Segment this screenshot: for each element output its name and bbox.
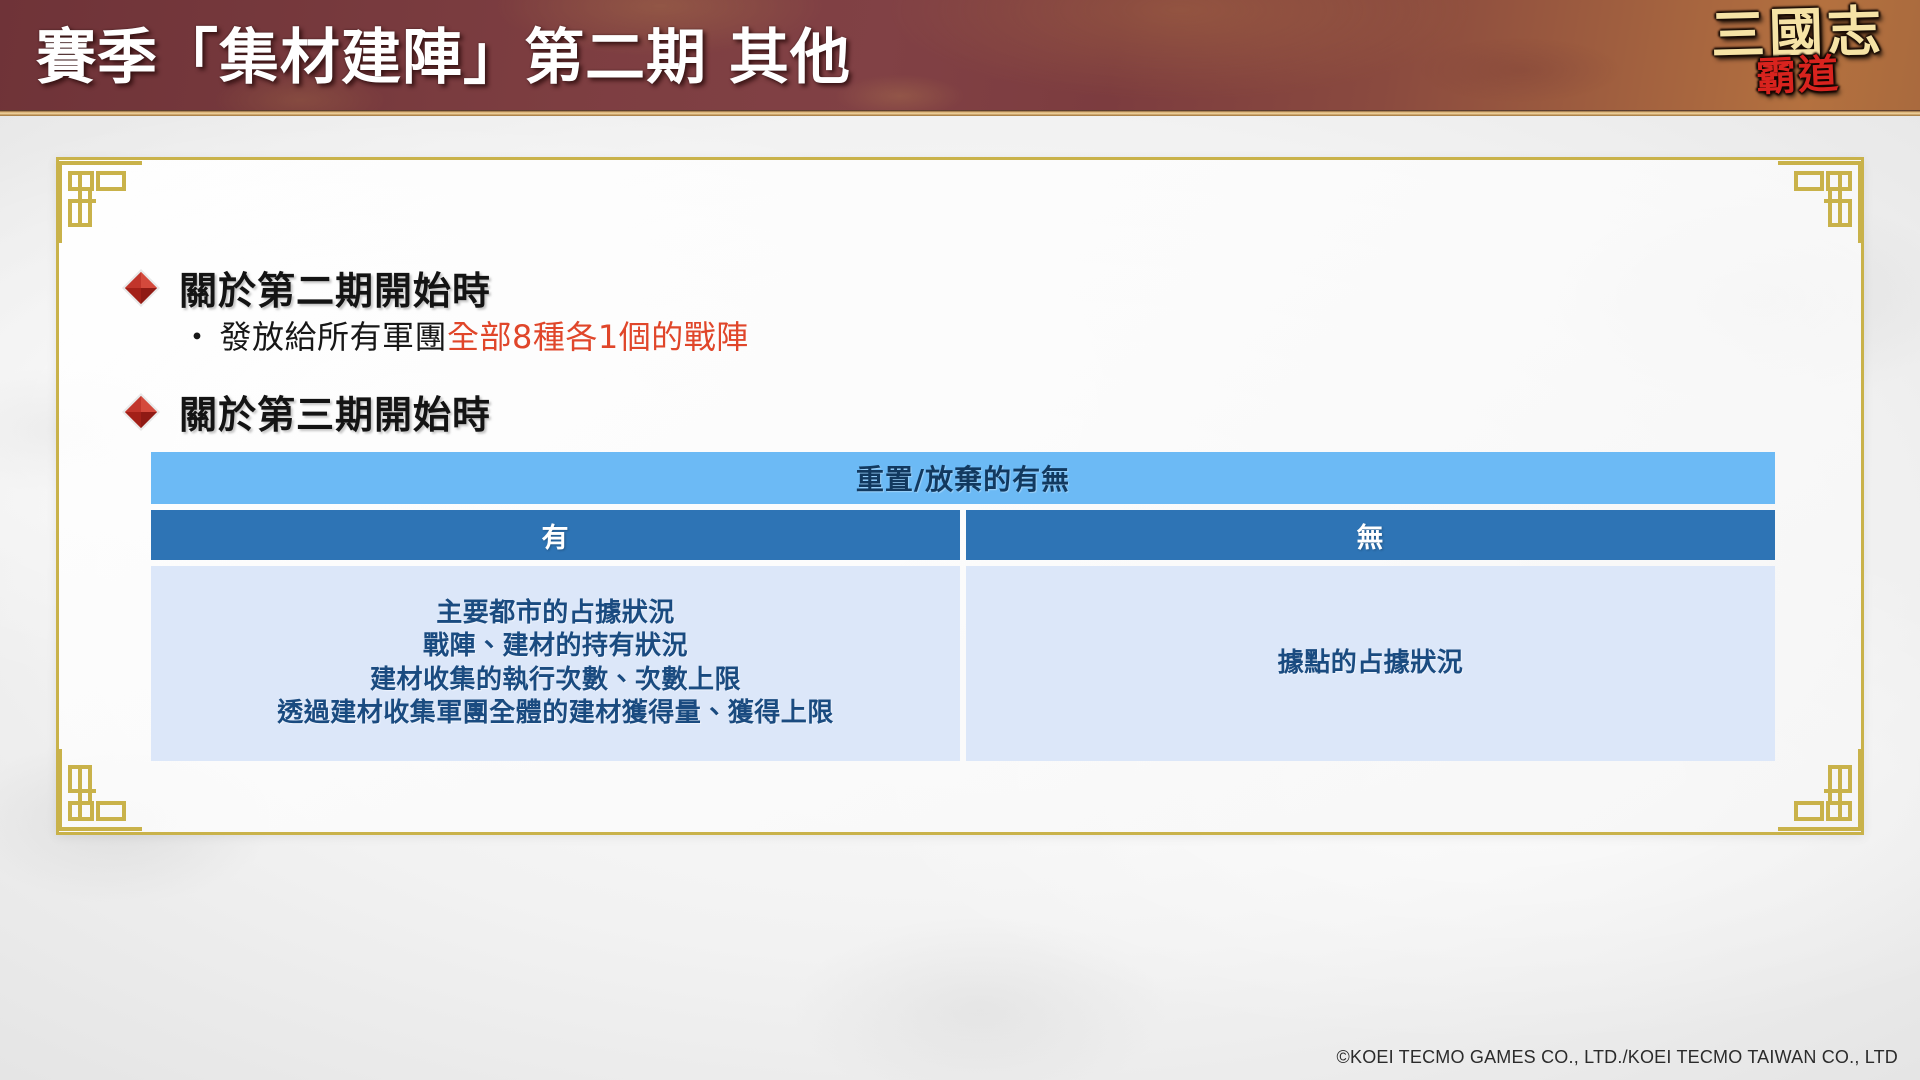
page-title: 賽季「集材建陣」第二期 其他 [36,18,851,98]
table-cell-line: 戰陣、建材的持有狀況 [277,630,834,663]
table-title-row: 重置/放棄的有無 [151,452,1775,504]
bullet-dot: ・ [181,318,214,356]
table-body-row: 主要都市的占據狀況 戰陣、建材的持有狀況 建材收集的執行次數、次數上限 透過建材… [151,566,1775,761]
table-cell-line: 透過建材收集軍團全體的建材獲得量、獲得上限 [277,697,834,730]
section-heading-phase3: 關於第三期開始時 [121,384,491,439]
table-column-header-row: 有 無 [151,510,1775,560]
red-diamond-icon [121,392,161,432]
table-cell-line: 建材收集的執行次數、次數上限 [277,664,834,697]
game-logo: 三國志 霸道 [1698,6,1898,158]
bullet-text-plain: 發放給所有軍團 [220,318,448,356]
heading-label: 關於第三期開始時 [179,384,491,439]
table-cell-yes: 主要都市的占據狀況 戰陣、建材的持有狀況 建材收集的執行次數、次數上限 透過建材… [151,566,960,761]
panel-content: 關於第二期開始時 ・發放給所有軍團全部8種各1個的戰陣 關於第三期開始時 [59,160,1861,832]
bullet-item-phase2: ・發放給所有軍團全部8種各1個的戰陣 [181,312,749,358]
content-panel: 關於第二期開始時 ・發放給所有軍團全部8種各1個的戰陣 關於第三期開始時 [56,157,1864,835]
header-bar: 賽季「集材建陣」第二期 其他 [0,0,1920,116]
red-diamond-icon [121,268,161,308]
comparison-table: 重置/放棄的有無 有 無 主要都市的占據狀況 戰陣、建材的持有狀況 建材收集的執… [151,452,1775,761]
table-cell-line: 據點的占據狀況 [1278,647,1464,680]
table-cell-no: 據點的占據狀況 [966,566,1775,761]
section-heading-phase2: 關於第二期開始時 [121,260,491,315]
header-gold-divider [0,110,1920,116]
heading-label: 關於第二期開始時 [179,260,491,315]
bullet-text-emphasis: 全部8種各1個的戰陣 [447,318,749,356]
logo-title-sub: 霸道 [1697,52,1899,101]
table-column-header-no: 無 [966,510,1775,560]
table-column-header-yes: 有 [151,510,960,560]
table-cell-line: 主要都市的占據狀況 [277,597,834,630]
copyright-notice: ©KOEI TECMO GAMES CO., LTD./KOEI TECMO T… [1337,1047,1898,1068]
